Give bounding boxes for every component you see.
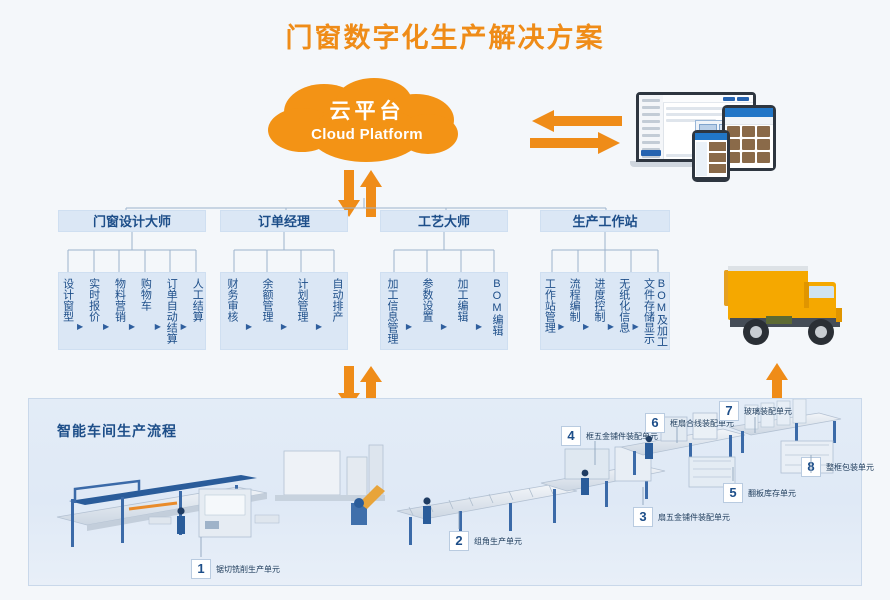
cloud-platform-node[interactable]: 云平台 Cloud Platform <box>262 78 472 166</box>
station-number: 5 <box>723 483 743 503</box>
module-tree: 门窗设计大师 设计窗型 ▶ 实时报价 ▶ 物料营销 ▶ 购物车 ▶ 订单自动结算… <box>58 210 670 370</box>
module-group-items: 加工信息管理 ▶ 参数设置 ▶ 加工编辑 ▶ BOM编辑 <box>380 272 508 350</box>
flow-arrow-icon: ▶ <box>181 322 187 331</box>
flow-arrow-icon: ▶ <box>246 322 252 331</box>
module-item[interactable]: 计划管理 <box>295 278 308 322</box>
module-item[interactable]: 流程编制 <box>567 278 580 322</box>
module-group-items: 工作站管理 ▶ 流程编制 ▶ 进度控制 ▶ 无纸化信息 ▶ BOM及加工文件存储… <box>540 272 670 350</box>
module-item[interactable]: 进度控制 <box>592 278 605 322</box>
flow-arrow-icon: ▶ <box>441 322 447 331</box>
cloud-device-sync-arrows <box>530 110 622 156</box>
module-group-2[interactable]: 工艺大师 加工信息管理 ▶ 参数设置 ▶ 加工编辑 ▶ BOM编辑 <box>380 210 508 232</box>
arrow-right-icon <box>530 132 620 154</box>
module-item[interactable]: 订单自动结算 <box>164 278 177 344</box>
flow-arrow-icon: ▶ <box>281 322 287 331</box>
workshop-panel: 智能车间生产流程 <box>28 398 862 586</box>
station-callout[interactable]: 4 框五金铺件装配单元 <box>561 426 658 446</box>
flow-arrow-icon: ▶ <box>316 322 322 331</box>
phone-device <box>692 130 730 182</box>
module-item[interactable]: 加工编辑 <box>455 278 468 322</box>
group-branch-connectors <box>540 232 670 274</box>
cloud-platform-label: 云平台 Cloud Platform <box>262 100 472 143</box>
module-item[interactable]: 工作站管理 <box>542 278 555 333</box>
flow-arrow-icon: ▶ <box>608 322 614 331</box>
flow-arrow-icon: ▶ <box>77 322 83 331</box>
station-label: 整框包装单元 <box>826 462 874 473</box>
module-item[interactable]: 余额管理 <box>260 278 273 322</box>
module-item[interactable]: 人工结算 <box>190 278 203 322</box>
station-number: 1 <box>191 559 211 579</box>
module-item[interactable]: 物料营销 <box>113 278 126 322</box>
page-title: 门窗数字化生产解决方案 <box>0 16 890 55</box>
module-item[interactable]: 参数设置 <box>420 278 433 322</box>
flow-arrow-icon: ▶ <box>476 322 482 331</box>
flow-arrow-icon: ▶ <box>406 322 412 331</box>
flow-arrow-icon: ▶ <box>129 322 135 331</box>
module-item[interactable]: 自动排产 <box>330 278 343 322</box>
station-label: 玻璃装配单元 <box>744 406 792 417</box>
module-group-3[interactable]: 生产工作站 工作站管理 ▶ 流程编制 ▶ 进度控制 ▶ 无纸化信息 ▶ BOM及… <box>540 210 670 232</box>
station-callout[interactable]: 8 整框包装单元 <box>801 457 874 477</box>
cloud-platform-name-cn: 云平台 <box>262 100 472 124</box>
station-callout[interactable]: 2 组角生产单元 <box>449 531 522 551</box>
module-item[interactable]: BOM编辑 <box>490 278 503 336</box>
module-group-title[interactable]: 工艺大师 <box>380 210 508 232</box>
module-item[interactable]: 设计窗型 <box>61 278 74 322</box>
module-item[interactable]: 财务审核 <box>225 278 238 322</box>
module-item[interactable]: 加工信息管理 <box>385 278 398 344</box>
station-callout[interactable]: 3 扇五金铺件装配单元 <box>633 507 730 527</box>
module-group-title[interactable]: 门窗设计大师 <box>58 210 206 232</box>
module-group-title[interactable]: 生产工作站 <box>540 210 670 232</box>
flow-arrow-icon: ▶ <box>103 322 109 331</box>
station-callout[interactable]: 7 玻璃装配单元 <box>719 401 792 421</box>
solution-diagram: 门窗数字化生产解决方案 云平台 Cloud Platform <box>0 0 890 600</box>
station-label: 翻板库存单元 <box>748 488 796 499</box>
station-callout[interactable]: 1 锯切铣削生产单元 <box>191 559 280 579</box>
flow-arrow-icon: ▶ <box>583 322 589 331</box>
multi-device-mockup <box>630 88 810 178</box>
module-item[interactable]: 无纸化信息 <box>617 278 630 333</box>
flow-arrow-icon: ▶ <box>633 322 639 331</box>
station-number: 2 <box>449 531 469 551</box>
station-callout[interactable]: 5 翻板库存单元 <box>723 483 796 503</box>
module-item[interactable]: 购物车 <box>138 278 151 311</box>
phone-screen <box>695 133 727 177</box>
module-group-0[interactable]: 门窗设计大师 设计窗型 ▶ 实时报价 ▶ 物料营销 ▶ 购物车 ▶ 订单自动结算… <box>58 210 206 232</box>
station-label: 扇五金铺件装配单元 <box>658 512 730 523</box>
module-item[interactable]: BOM及加工文件存储显示 <box>642 278 668 349</box>
cloud-platform-name-en: Cloud Platform <box>262 126 472 143</box>
station-number: 6 <box>645 413 665 433</box>
module-group-items: 财务审核 ▶ 余额管理 ▶ 计划管理 ▶ 自动排产 <box>220 272 348 350</box>
module-item[interactable]: 实时报价 <box>87 278 100 322</box>
module-group-items: 设计窗型 ▶ 实时报价 ▶ 物料营销 ▶ 购物车 ▶ 订单自动结算 ▶ 人工结算 <box>58 272 206 350</box>
group-branch-connectors <box>380 232 508 274</box>
group-branch-connectors <box>220 232 348 274</box>
station-number: 3 <box>633 507 653 527</box>
module-group-title[interactable]: 订单经理 <box>220 210 348 232</box>
station-number: 4 <box>561 426 581 446</box>
group-branch-connectors <box>58 232 206 274</box>
module-group-1[interactable]: 订单经理 财务审核 ▶ 余额管理 ▶ 计划管理 ▶ 自动排产 <box>220 210 348 232</box>
laptop-toolbar <box>663 95 753 103</box>
station-number: 7 <box>719 401 739 421</box>
station-number: 8 <box>801 457 821 477</box>
tablet-device <box>722 105 776 171</box>
flow-arrow-icon: ▶ <box>558 322 564 331</box>
delivery-truck-illustration <box>710 258 874 358</box>
arrow-left-icon <box>532 110 622 132</box>
station-label: 锯切铣削生产单元 <box>216 564 280 575</box>
laptop-action-button <box>641 150 661 156</box>
station-label: 组角生产单元 <box>474 536 522 547</box>
flow-arrow-icon: ▶ <box>155 322 161 331</box>
tablet-screen <box>725 108 773 168</box>
